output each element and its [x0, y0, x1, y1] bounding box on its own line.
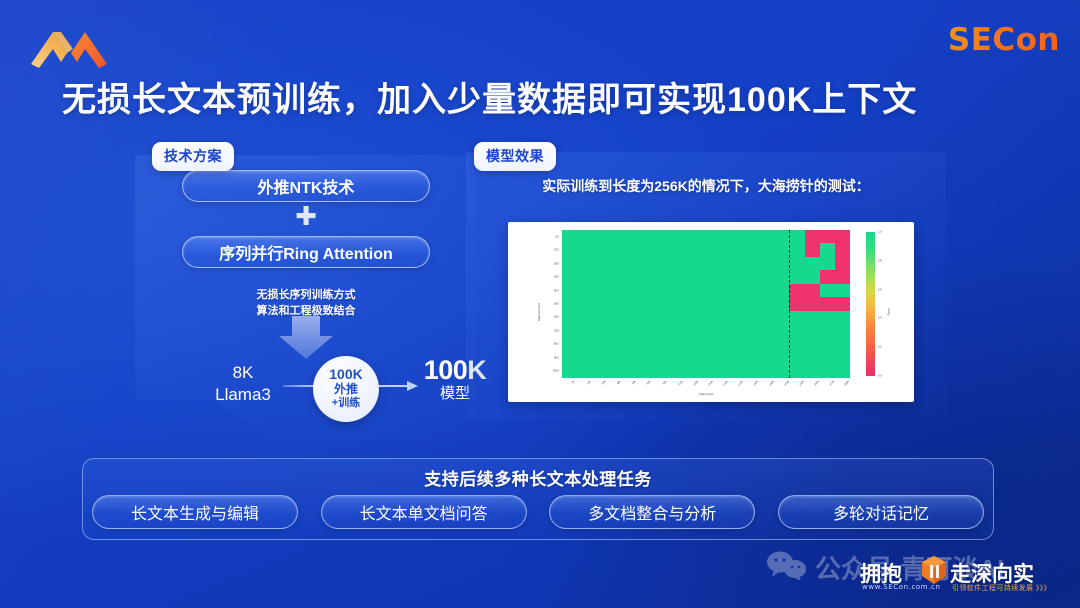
secon-cube-icon — [921, 555, 947, 585]
heatmap-cell — [698, 230, 713, 243]
heatmap-cell — [805, 351, 820, 364]
heatmap-cell — [759, 297, 774, 310]
flow-circle-line1: 100K — [329, 368, 362, 381]
colorbar-tick: 0.4 — [878, 317, 882, 320]
heatmap-x-tick: 160K — [723, 380, 729, 386]
heatmap-cell — [623, 338, 638, 351]
flow-source-line2: Llama3 — [200, 384, 286, 406]
heatmap-cell — [607, 270, 622, 283]
heatmap-cell — [638, 230, 653, 243]
heatmap-cell — [835, 284, 850, 297]
heatmap-plot — [562, 230, 850, 378]
heatmap-cell — [774, 311, 789, 324]
heatmap-cell — [820, 284, 835, 297]
heatmap-cell — [820, 243, 835, 256]
heatmap-cell — [623, 324, 638, 337]
heatmap-cell — [820, 257, 835, 270]
heatmap-y-tick: 50.0 — [554, 303, 559, 306]
heatmap-cell — [805, 257, 820, 270]
heatmap-cell — [774, 284, 789, 297]
trained-length-dashed-line — [789, 230, 790, 378]
heatmap-cell — [623, 365, 638, 378]
footer-url: www.SECon.com.cn — [862, 583, 941, 591]
colorbar-tick: 1.0 — [878, 231, 882, 234]
heatmap-cell — [805, 365, 820, 378]
heatmap-cell — [592, 338, 607, 351]
heatmap-cell — [562, 270, 577, 283]
heatmap-cell — [805, 284, 820, 297]
heatmap-cell — [577, 365, 592, 378]
heatmap-y-tick: 10.0 — [554, 249, 559, 252]
heatmap-cell — [744, 324, 759, 337]
heatmap-cell — [820, 324, 835, 337]
slide-root: SECon 无损长文本预训练，加入少量数据即可实现100K上下文 技术方案 外推… — [0, 0, 1080, 608]
heatmap-cell — [562, 243, 577, 256]
heatmap-cell — [744, 230, 759, 243]
heatmap-cell — [729, 230, 744, 243]
heatmap-cell — [744, 365, 759, 378]
heatmap-cell — [744, 257, 759, 270]
heatmap-cell — [835, 230, 850, 243]
heatmap-cell — [729, 284, 744, 297]
heatmap-x-tick: 144K — [708, 380, 714, 386]
heatmap-x-tick: 208K — [768, 380, 774, 386]
heatmap-y-label: Depth Percent — [537, 303, 541, 321]
heatmap-cell — [668, 230, 683, 243]
heatmap-cell — [623, 230, 638, 243]
heatmap-cell — [592, 284, 607, 297]
heatmap-cell — [714, 284, 729, 297]
heatmap-cell — [729, 297, 744, 310]
heatmap-cell — [577, 243, 592, 256]
heatmap-cell — [607, 257, 622, 270]
heatmap-cell — [668, 365, 683, 378]
heatmap-x-tick: 192K — [753, 380, 759, 386]
heatmap-cell — [805, 230, 820, 243]
heatmap-cell — [607, 230, 622, 243]
heatmap-cell — [698, 365, 713, 378]
heatmap-cell — [623, 257, 638, 270]
heatmap-cell — [789, 324, 804, 337]
heatmap-cell — [805, 297, 820, 310]
mountain-m-logo-icon — [27, 22, 111, 68]
heatmap-cell — [653, 351, 668, 364]
heatmap-cell — [653, 311, 668, 324]
heatmap-cell — [668, 338, 683, 351]
heatmap-cell — [744, 338, 759, 351]
heatmap-cell — [729, 365, 744, 378]
heatmap-cell — [607, 324, 622, 337]
heatmap-cell — [683, 284, 698, 297]
heatmap-x-tick: 256K — [814, 380, 820, 386]
flow-source: 8K Llama3 — [200, 362, 286, 406]
heatmap-cell — [577, 351, 592, 364]
heatmap-cell — [805, 243, 820, 256]
heatmap-cell — [592, 257, 607, 270]
heatmap-cell — [638, 257, 653, 270]
heatmap-cell — [774, 297, 789, 310]
heatmap-cell — [607, 365, 622, 378]
model-effect-heading: 实际训练到长度为256K的情况下，大海捞针的测试： — [466, 176, 946, 196]
heatmap-x-label: Token Limit — [562, 392, 850, 396]
heatmap-cell — [698, 284, 713, 297]
heatmap-cell — [744, 284, 759, 297]
heatmap-cell — [789, 311, 804, 324]
heatmap-cell — [820, 338, 835, 351]
heatmap-cell — [835, 338, 850, 351]
colorbar-tick: 0.6 — [878, 288, 882, 291]
heatmap-cell — [577, 338, 592, 351]
flow-connector-line — [283, 385, 317, 387]
heatmap-colorbar — [866, 232, 875, 376]
heatmap-cell — [789, 365, 804, 378]
heatmap-cell — [744, 243, 759, 256]
heatmap-cell — [835, 351, 850, 364]
heatmap-y-tick: 100.0 — [553, 370, 560, 373]
heatmap-cell — [607, 297, 622, 310]
heatmap-cell — [592, 270, 607, 283]
needle-haystack-chart: 0.010.020.030.040.050.060.070.080.090.01… — [508, 222, 914, 402]
heatmap-cell — [562, 365, 577, 378]
heatmap-x-tick: 96K — [662, 380, 667, 385]
heatmap-cell — [698, 270, 713, 283]
heatmap-cell — [592, 297, 607, 310]
colorbar-label: Score — [887, 308, 891, 315]
heatmap-cell — [638, 338, 653, 351]
heatmap-cell — [683, 351, 698, 364]
training-note-line1: 无损长序列训练方式 — [182, 287, 430, 303]
heatmap-cell — [805, 270, 820, 283]
heatmap-x-tick: 48K — [616, 380, 621, 385]
heatmap-cell — [759, 338, 774, 351]
heatmap-cell — [653, 243, 668, 256]
heatmap-cell — [653, 257, 668, 270]
heatmap-cell — [774, 338, 789, 351]
tasks-pill-row: 长文本生成与编辑长文本单文档问答多文档整合与分析多轮对话记忆 — [92, 495, 984, 529]
heatmap-cell — [577, 257, 592, 270]
heatmap-x-tick: 32K — [601, 380, 606, 385]
heatmap-cell — [638, 311, 653, 324]
section-tag-tech: 技术方案 — [152, 142, 234, 171]
heatmap-cell — [577, 324, 592, 337]
flow-circle-line3: +训练 — [332, 397, 360, 410]
heatmap-x-tick: 272K — [829, 380, 835, 386]
heatmap-cell — [729, 351, 744, 364]
heatmap-cell — [714, 297, 729, 310]
heatmap-cell — [562, 297, 577, 310]
heatmap-cell — [683, 311, 698, 324]
heatmap-y-tick: 60.0 — [554, 316, 559, 319]
page-title: 无损长文本预训练，加入少量数据即可实现100K上下文 — [62, 72, 917, 121]
heatmap-cell — [562, 257, 577, 270]
pill-ntk[interactable]: 外推NTK技术 — [182, 170, 430, 202]
heatmap-y-tick: 70.0 — [554, 329, 559, 332]
heatmap-cell — [592, 351, 607, 364]
heatmap-cell — [835, 324, 850, 337]
heatmap-cell — [729, 257, 744, 270]
heatmap-cell — [835, 243, 850, 256]
heatmap-cell — [759, 311, 774, 324]
heatmap-cell — [714, 257, 729, 270]
heatmap-cell — [729, 324, 744, 337]
heatmap-cell — [592, 243, 607, 256]
heatmap-cell — [638, 284, 653, 297]
heatmap-cell — [638, 324, 653, 337]
heatmap-cell — [638, 243, 653, 256]
colorbar-tick: 0.8 — [878, 259, 882, 262]
heatmap-cell — [789, 257, 804, 270]
tasks-title: 支持后续多种长文本处理任务 — [82, 465, 994, 490]
heatmap-cell — [714, 324, 729, 337]
heatmap-cell — [805, 324, 820, 337]
heatmap-cell — [729, 338, 744, 351]
flow-circle-badge: 100K 外推 +训练 — [313, 356, 379, 422]
heatmap-cell — [774, 351, 789, 364]
heatmap-cell — [653, 365, 668, 378]
heatmap-cell — [835, 297, 850, 310]
heatmap-cell — [698, 324, 713, 337]
heatmap-cell — [577, 270, 592, 283]
heatmap-cell — [698, 351, 713, 364]
heatmap-x-tick: 224K — [784, 380, 790, 386]
heatmap-cell — [744, 351, 759, 364]
colorbar-tick: 0.0 — [878, 375, 882, 378]
heatmap-cell — [623, 284, 638, 297]
heatmap-cell — [668, 284, 683, 297]
task-pill[interactable]: 多文档整合与分析 — [549, 495, 755, 529]
heatmap-cell — [623, 351, 638, 364]
heatmap-y-tick: 30.0 — [554, 276, 559, 279]
heatmap-cell — [698, 338, 713, 351]
heatmap-cell — [744, 297, 759, 310]
heatmap-grid — [562, 230, 850, 378]
heatmap-cell — [668, 270, 683, 283]
pill-ring-attention[interactable]: 序列并行Ring Attention — [182, 236, 430, 268]
heatmap-cell — [653, 324, 668, 337]
heatmap-cell — [653, 270, 668, 283]
heatmap-cell — [744, 311, 759, 324]
task-pill[interactable]: 多轮对话记忆 — [778, 495, 984, 529]
heatmap-cell — [820, 270, 835, 283]
heatmap-cell — [805, 311, 820, 324]
heatmap-cell — [744, 270, 759, 283]
heatmap-cell — [820, 365, 835, 378]
heatmap-cell — [607, 243, 622, 256]
heatmap-cell — [668, 311, 683, 324]
heatmap-cell — [683, 365, 698, 378]
heatmap-cell — [683, 257, 698, 270]
heatmap-cell — [714, 243, 729, 256]
heatmap-cell — [698, 243, 713, 256]
heatmap-cell — [577, 297, 592, 310]
heatmap-x-tick: 176K — [738, 380, 744, 386]
heatmap-cell — [774, 230, 789, 243]
heatmap-cell — [668, 297, 683, 310]
heatmap-cell — [789, 297, 804, 310]
heatmap-cell — [714, 365, 729, 378]
heatmap-cell — [789, 284, 804, 297]
heatmap-cell — [714, 311, 729, 324]
heatmap-cell — [562, 338, 577, 351]
heatmap-cell — [607, 338, 622, 351]
heatmap-x-tick: 16K — [586, 380, 591, 385]
heatmap-cell — [562, 284, 577, 297]
heatmap-cell — [668, 257, 683, 270]
heatmap-cell — [638, 297, 653, 310]
heatmap-cell — [698, 311, 713, 324]
heatmap-cell — [759, 243, 774, 256]
heatmap-cell — [683, 324, 698, 337]
heatmap-cell — [759, 351, 774, 364]
heatmap-cell — [714, 270, 729, 283]
heatmap-cell — [577, 230, 592, 243]
heatmap-cell — [789, 338, 804, 351]
heatmap-y-tick: 20.0 — [554, 262, 559, 265]
heatmap-cell — [835, 257, 850, 270]
heatmap-cell — [759, 257, 774, 270]
colorbar-tick: 0.2 — [878, 346, 882, 349]
heatmap-cell — [729, 270, 744, 283]
heatmap-cell — [774, 257, 789, 270]
wechat-icon — [766, 550, 806, 585]
heatmap-cell — [805, 338, 820, 351]
heatmap-cell — [683, 230, 698, 243]
heatmap-x-tick: 128K — [693, 380, 699, 386]
heatmap-cell — [562, 351, 577, 364]
heatmap-cell — [683, 243, 698, 256]
heatmap-cell — [774, 365, 789, 378]
heatmap-cell — [789, 270, 804, 283]
heatmap-cell — [623, 311, 638, 324]
heatmap-cell — [623, 297, 638, 310]
heatmap-cell — [668, 351, 683, 364]
heatmap-cell — [729, 243, 744, 256]
heatmap-cell — [729, 311, 744, 324]
heatmap-cell — [607, 351, 622, 364]
heatmap-cell — [835, 311, 850, 324]
training-note: 无损长序列训练方式 算法和工程极致结合 — [182, 287, 430, 319]
heatmap-cell — [638, 351, 653, 364]
heatmap-cell — [562, 324, 577, 337]
heatmap-cell — [653, 297, 668, 310]
heatmap-cell — [835, 365, 850, 378]
heatmap-cell — [683, 297, 698, 310]
heatmap-cell — [698, 257, 713, 270]
heatmap-x-tick: 112K — [677, 380, 683, 386]
heatmap-cell — [623, 270, 638, 283]
heatmap-cell — [562, 311, 577, 324]
heatmap-cell — [683, 270, 698, 283]
heatmap-cell — [789, 351, 804, 364]
heatmap-cell — [714, 351, 729, 364]
flow-circle-line2: 外推 — [334, 383, 358, 396]
heatmap-cell — [714, 230, 729, 243]
heatmap-cell — [577, 311, 592, 324]
heatmap-cell — [668, 243, 683, 256]
heatmap-cell — [638, 365, 653, 378]
heatmap-cell — [774, 324, 789, 337]
heatmap-cell — [638, 270, 653, 283]
heatmap-cell — [592, 324, 607, 337]
flow-diagram: 8K Llama3 100K 外推 +训练 100K 模型 — [165, 358, 455, 416]
secon-brand-logo: SECon — [948, 22, 1060, 58]
heatmap-cell — [714, 338, 729, 351]
task-pill[interactable]: 长文本生成与编辑 — [92, 495, 298, 529]
heatmap-x-tick: 80K — [647, 380, 652, 385]
plus-icon: ✚ — [295, 206, 317, 228]
heatmap-cell — [759, 230, 774, 243]
heatmap-x-tick: 64K — [632, 380, 637, 385]
flow-source-line1: 8K — [200, 362, 286, 384]
heatmap-cell — [759, 270, 774, 283]
heatmap-y-tick: 40.0 — [554, 289, 559, 292]
heatmap-cell — [835, 270, 850, 283]
heatmap-cell — [820, 230, 835, 243]
heatmap-cell — [759, 324, 774, 337]
down-arrow-icon — [275, 316, 337, 360]
footer-slogan: 引领软件工程可持续发展 》》》 — [952, 583, 1051, 593]
heatmap-cell — [607, 284, 622, 297]
heatmap-y-tick: 90.0 — [554, 356, 559, 359]
heatmap-cell — [820, 297, 835, 310]
heatmap-cell — [653, 338, 668, 351]
heatmap-cell — [653, 230, 668, 243]
heatmap-cell — [820, 311, 835, 324]
heatmap-cell — [607, 311, 622, 324]
heatmap-cell — [759, 365, 774, 378]
heatmap-cell — [592, 230, 607, 243]
heatmap-cell — [668, 324, 683, 337]
heatmap-cell — [789, 243, 804, 256]
heatmap-cell — [562, 230, 577, 243]
heatmap-cell — [774, 270, 789, 283]
heatmap-cell — [789, 230, 804, 243]
heatmap-cell — [653, 284, 668, 297]
heatmap-cell — [774, 243, 789, 256]
heatmap-cell — [592, 365, 607, 378]
heatmap-cell — [623, 243, 638, 256]
heatmap-cell — [592, 311, 607, 324]
heatmap-x-tick: 240K — [799, 380, 805, 386]
heatmap-cell — [759, 284, 774, 297]
task-pill[interactable]: 长文本单文档问答 — [321, 495, 527, 529]
heatmap-cell — [820, 351, 835, 364]
heatmap-x-tick: 1K — [571, 380, 575, 384]
heatmap-y-tick: 0.0 — [555, 235, 559, 238]
heatmap-y-tick: 80.0 — [554, 343, 559, 346]
section-tag-effect: 模型效果 — [474, 142, 556, 171]
heatmap-cell — [698, 297, 713, 310]
heatmap-cell — [683, 338, 698, 351]
heatmap-cell — [577, 284, 592, 297]
heatmap-x-tick: 288K — [844, 380, 850, 386]
